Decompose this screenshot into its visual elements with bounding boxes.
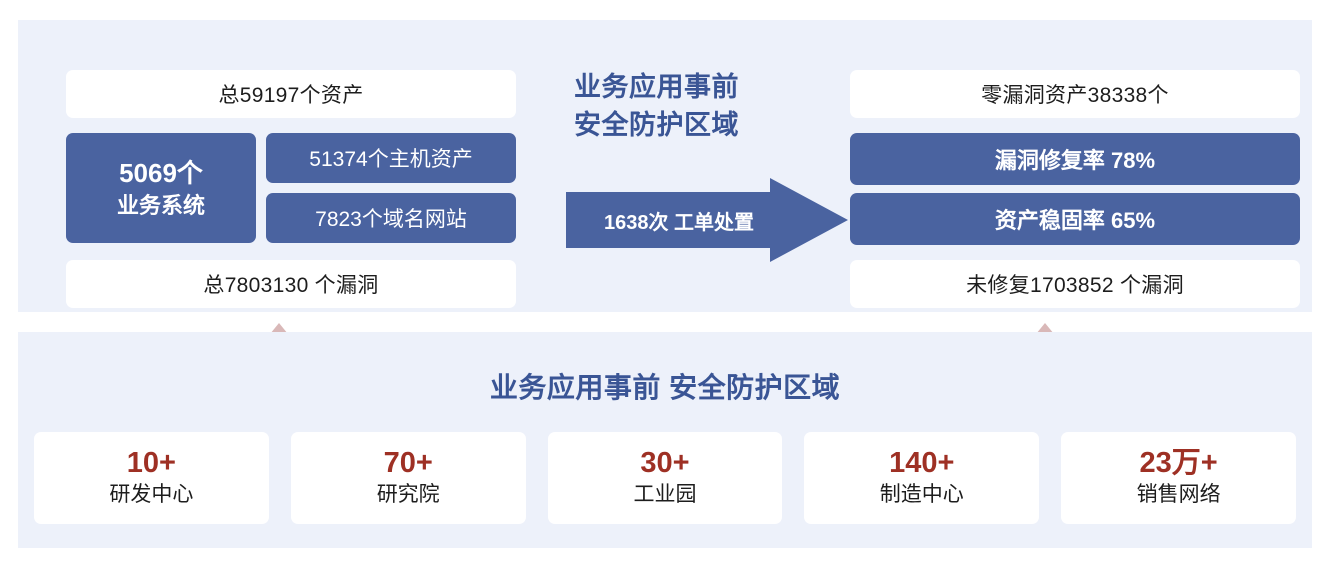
- center-title-line1: 业务应用事前: [574, 68, 824, 106]
- stat-label: 工业园: [633, 482, 696, 507]
- top-panel: 总59197个资产 5069个 业务系统 51374个主机资产 7823个域名网…: [18, 20, 1312, 312]
- host-assets-card: 51374个主机资产: [266, 133, 516, 183]
- stat-value: 140+: [889, 448, 954, 480]
- stat-value: 30+: [640, 448, 689, 480]
- stat-value: 70+: [384, 448, 433, 480]
- zero-vulnerability-assets-card: 零漏洞资产38338个: [850, 70, 1300, 118]
- stat-card-list: 10+ 研发中心 70+ 研究院 30+ 工业园 140+ 制造中心 23万+ …: [34, 432, 1296, 524]
- stat-value: 23万+: [1139, 448, 1217, 480]
- asset-stability-rate-bar: 资产稳固率 65%: [850, 193, 1300, 245]
- assets-total-card: 总59197个资产: [66, 70, 516, 118]
- stat-label: 销售网络: [1137, 482, 1221, 507]
- stat-value: 10+: [127, 448, 176, 480]
- unfixed-vulnerability-card: 未修复1703852 个漏洞: [850, 260, 1300, 308]
- flow-arrow-label: 1638次 工单处置: [584, 202, 774, 238]
- business-system-label: 业务系统: [117, 191, 205, 221]
- stat-card: 140+ 制造中心: [804, 432, 1039, 524]
- vulnerability-fix-rate-bar: 漏洞修复率 78%: [850, 133, 1300, 185]
- domain-sites-card: 7823个域名网站: [266, 193, 516, 243]
- stat-card: 70+ 研究院: [291, 432, 526, 524]
- center-title-line2: 安全防护区域: [574, 106, 824, 144]
- center-title: 业务应用事前 安全防护区域: [574, 68, 824, 145]
- business-system-value: 5069个: [119, 156, 203, 191]
- stat-card: 30+ 工业园: [548, 432, 783, 524]
- vulnerability-total-card: 总7803130 个漏洞: [66, 260, 516, 308]
- stat-card: 10+ 研发中心: [34, 432, 269, 524]
- business-system-box: 5069个 业务系统: [66, 133, 256, 243]
- stat-label: 制造中心: [880, 482, 964, 507]
- bottom-panel-title: 业务应用事前 安全防护区域: [18, 366, 1312, 406]
- stat-card: 23万+ 销售网络: [1061, 432, 1296, 524]
- stat-label: 研发中心: [109, 482, 193, 507]
- stat-label: 研究院: [377, 482, 440, 507]
